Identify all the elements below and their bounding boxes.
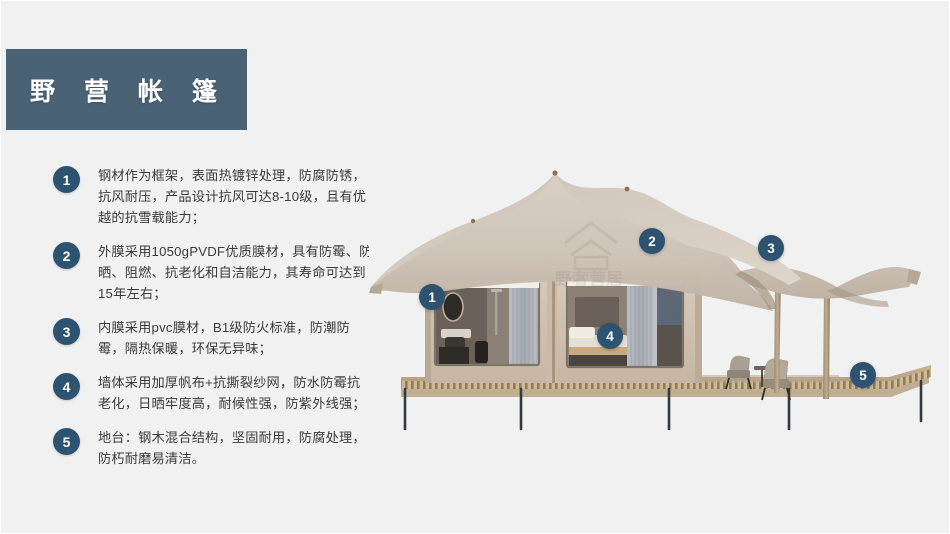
tent-illustration: 野奢营居 — [369, 151, 947, 451]
feature-badge-4: 4 — [53, 373, 80, 400]
window-bedroom — [567, 281, 683, 367]
list-item: 3 内膜采用pvc膜材，B1级防火标准，防潮防霉，隔热保暖，环保无异味； — [53, 317, 373, 359]
list-item: 2 外膜采用1050gPVDF优质膜材，具有防霉、防晒、阻燃、抗老化和自洁能力，… — [53, 241, 373, 304]
feature-badge-1: 1 — [53, 166, 80, 193]
feature-text-4: 墙体采用加厚帆布+抗撕裂纱网，防水防霉抗老化，日晒牢度高，耐候性强，防紫外线强； — [98, 372, 373, 414]
feature-text-2: 外膜采用1050gPVDF优质膜材，具有防霉、防晒、阻燃、抗老化和自洁能力，其寿… — [98, 241, 373, 304]
feature-text-3: 内膜采用pvc膜材，B1级防火标准，防潮防霉，隔热保暖，环保无异味； — [98, 317, 373, 359]
callout-badge-1[interactable]: 1 — [419, 284, 445, 310]
list-item: 1 钢材作为框架，表面热镀锌处理，防腐防锈，抗风耐压，产品设计抗风可达8-10级… — [53, 165, 373, 228]
feature-text-5: 地台：钢木混合结构，坚固耐用，防腐处理，防朽耐磨易清洁。 — [98, 427, 373, 469]
window-bathroom — [435, 283, 541, 365]
list-item: 4 墙体采用加厚帆布+抗撕裂纱网，防水防霉抗老化，日晒牢度高，耐候性强，防紫外线… — [53, 372, 373, 414]
page-title: 野 营 帐 篷 — [30, 72, 228, 108]
callout-badge-5[interactable]: 5 — [850, 362, 876, 388]
feature-badge-3: 3 — [53, 318, 80, 345]
callout-badge-2[interactable]: 2 — [639, 228, 665, 254]
feature-badge-5: 5 — [53, 428, 80, 455]
title-banner: 野 营 帐 篷 — [6, 49, 247, 130]
svg-text:野奢营居: 野奢营居 — [555, 269, 623, 289]
list-item: 5 地台：钢木混合结构，坚固耐用，防腐处理，防朽耐磨易清洁。 — [53, 427, 373, 469]
callout-badge-4[interactable]: 4 — [597, 323, 623, 349]
slide-root: 野 营 帐 篷 1 钢材作为框架，表面热镀锌处理，防腐防锈，抗风耐压，产品设计抗… — [0, 0, 950, 534]
callout-badge-3[interactable]: 3 — [758, 235, 784, 261]
feature-badge-2: 2 — [53, 242, 80, 269]
feature-list: 1 钢材作为框架，表面热镀锌处理，防腐防锈，抗风耐压，产品设计抗风可达8-10级… — [53, 165, 373, 469]
feature-text-1: 钢材作为框架，表面热镀锌处理，防腐防锈，抗风耐压，产品设计抗风可达8-10级，且… — [98, 165, 373, 228]
